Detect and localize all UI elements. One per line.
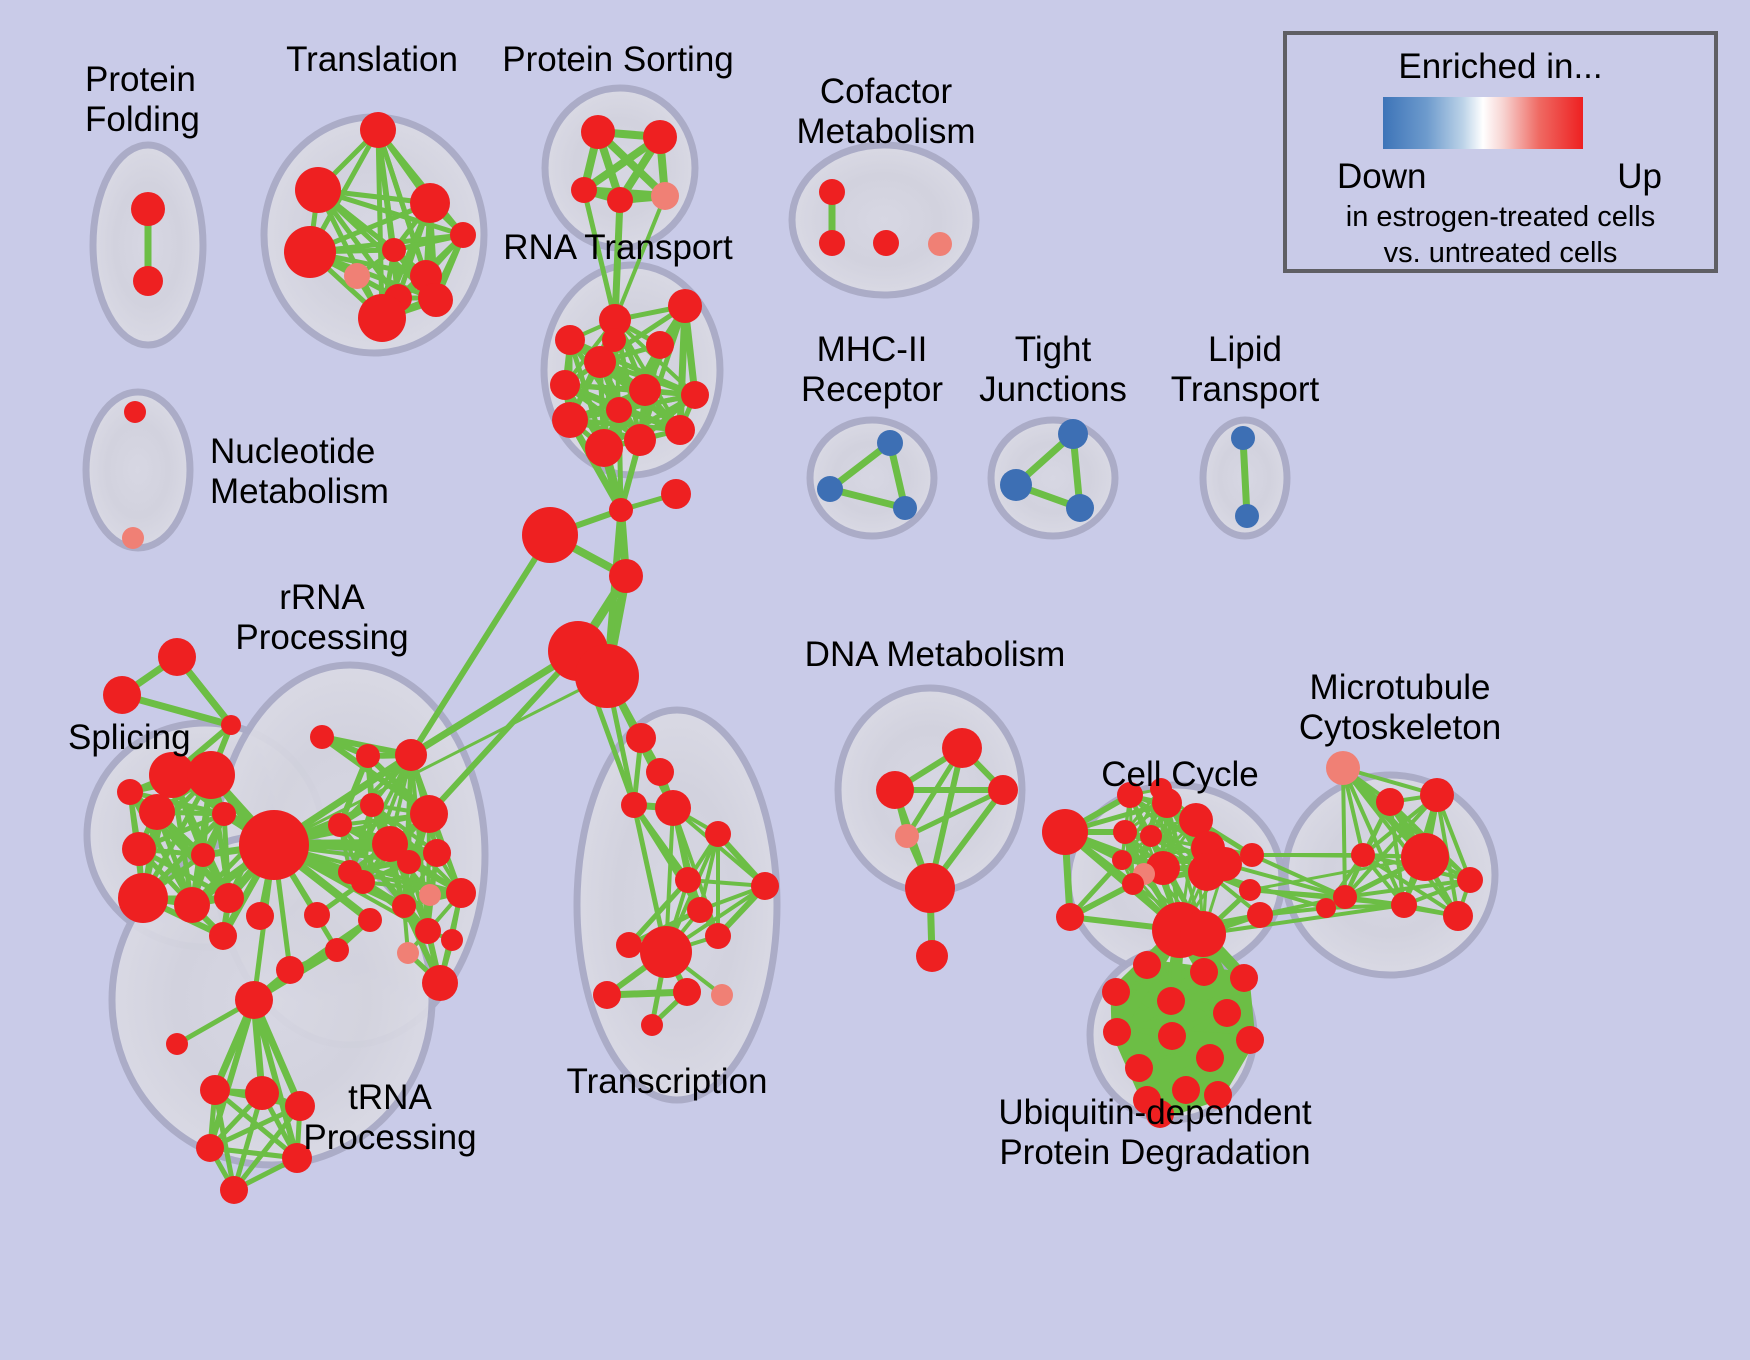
network-node — [571, 177, 597, 203]
network-node — [928, 232, 952, 256]
network-node — [550, 370, 580, 400]
network-node — [122, 527, 144, 549]
network-node — [200, 1075, 230, 1105]
network-node — [1213, 999, 1241, 1027]
network-node — [246, 902, 274, 930]
network-node — [1401, 833, 1449, 881]
network-node — [196, 1134, 224, 1162]
network-node — [1316, 898, 1336, 918]
network-node — [687, 897, 713, 923]
network-node — [905, 863, 955, 913]
network-node — [239, 810, 309, 880]
network-node — [1333, 885, 1357, 909]
network-node — [103, 676, 141, 714]
network-node — [410, 183, 450, 223]
network-node — [1112, 850, 1132, 870]
network-node — [360, 112, 396, 148]
network-node — [235, 981, 273, 1019]
network-node — [705, 923, 731, 949]
network-node — [629, 374, 661, 406]
cluster-label-translation: Translation — [286, 40, 458, 80]
network-node — [395, 739, 427, 771]
network-node — [392, 894, 416, 918]
legend-subtitle-line1: in estrogen-treated cells — [1287, 201, 1714, 234]
network-node — [1376, 788, 1404, 816]
network-node — [1391, 892, 1417, 918]
network-node — [220, 1176, 248, 1204]
network-node — [1208, 847, 1242, 881]
network-node — [1066, 494, 1094, 522]
network-node — [665, 415, 695, 445]
network-node — [214, 883, 244, 913]
cluster-label-tight-junctions: Tight Junctions — [979, 330, 1127, 410]
network-node — [646, 758, 674, 786]
network-node — [187, 751, 235, 799]
network-node — [397, 942, 419, 964]
cluster-label-cell-cycle: Cell Cycle — [1101, 755, 1259, 795]
network-node — [819, 230, 845, 256]
network-node — [415, 918, 441, 944]
network-node — [133, 266, 163, 296]
network-node — [1113, 820, 1137, 844]
cluster-label-mhc-ii-receptor: MHC-II Receptor — [801, 330, 943, 410]
network-node — [382, 238, 406, 262]
network-node — [1326, 751, 1360, 785]
network-node — [118, 873, 168, 923]
network-node — [624, 424, 656, 456]
network-node — [356, 744, 380, 768]
network-node — [158, 638, 196, 676]
network-node — [360, 793, 384, 817]
network-node — [711, 984, 733, 1006]
network-node — [895, 824, 919, 848]
network-node — [893, 496, 917, 520]
cluster-hull-cofactor-metabolism — [792, 145, 976, 295]
network-node — [1058, 419, 1088, 449]
network-node — [675, 867, 701, 893]
network-node — [174, 887, 210, 923]
network-node — [751, 872, 779, 900]
network-node — [1122, 873, 1144, 895]
network-node — [221, 715, 241, 735]
legend-title: Enriched in... — [1287, 47, 1714, 87]
network-node — [1103, 1018, 1131, 1046]
network-node — [651, 182, 679, 210]
legend-colorbar — [1383, 97, 1583, 149]
network-node — [819, 179, 845, 205]
network-node — [295, 167, 341, 213]
network-node — [626, 723, 656, 753]
cluster-label-ubiquitin-protein-degradation: Ubiquitin-dependent Protein Degradation — [998, 1093, 1311, 1173]
network-node — [124, 401, 146, 423]
network-node — [139, 794, 175, 830]
network-node — [276, 956, 304, 984]
network-node — [1239, 879, 1261, 901]
cluster-label-splicing: Splicing — [68, 718, 191, 758]
network-node — [607, 187, 633, 213]
network-node — [1125, 1054, 1153, 1082]
network-node — [191, 843, 215, 867]
network-node — [358, 294, 406, 342]
network-node — [552, 402, 588, 438]
cluster-label-dna-metabolism: DNA Metabolism — [805, 635, 1066, 675]
network-node — [616, 932, 642, 958]
network-node — [1420, 778, 1454, 812]
cluster-label-cofactor-metabolism: Cofactor Metabolism — [797, 72, 976, 152]
cluster-label-nucleotide-metabolism: Nucleotide Metabolism — [210, 432, 389, 512]
network-node — [212, 802, 236, 826]
network-node — [646, 331, 674, 359]
network-node — [1042, 809, 1088, 855]
network-node — [1102, 978, 1130, 1006]
cluster-label-lipid-transport: Lipid Transport — [1171, 330, 1319, 410]
network-node — [1235, 504, 1259, 528]
network-node — [593, 981, 621, 1009]
network-node — [1190, 958, 1218, 986]
network-node — [1240, 843, 1264, 867]
network-node — [877, 430, 903, 456]
network-node — [643, 120, 677, 154]
network-node — [1457, 867, 1483, 893]
network-node — [1000, 469, 1032, 501]
network-node — [681, 381, 709, 409]
network-node — [1196, 1044, 1224, 1072]
network-node — [209, 922, 237, 950]
network-node — [1140, 825, 1162, 847]
network-node — [397, 850, 421, 874]
network-node — [1230, 964, 1258, 992]
network-node — [284, 226, 336, 278]
legend-up-label: Up — [1617, 157, 1662, 197]
network-node — [441, 929, 463, 951]
cluster-label-rrna-processing: rRNA Processing — [235, 578, 408, 658]
network-node — [661, 479, 691, 509]
network-node — [621, 792, 647, 818]
figure-canvas: Protein FoldingTranslationProtein Sortin… — [0, 0, 1750, 1360]
network-node — [1443, 901, 1473, 931]
network-node — [988, 775, 1018, 805]
network-node — [602, 328, 626, 352]
legend-box: Enriched in... Down Up in estrogen-treat… — [1283, 31, 1718, 273]
network-node — [351, 870, 375, 894]
network-node — [916, 940, 948, 972]
network-node — [641, 1014, 663, 1036]
network-node — [640, 926, 692, 978]
network-node — [410, 795, 448, 833]
network-node — [555, 325, 585, 355]
network-node — [575, 644, 639, 708]
cluster-label-microtubule-cytoskeleton: Microtubule Cytoskeleton — [1299, 668, 1501, 748]
network-node — [422, 965, 458, 1001]
network-node — [609, 498, 633, 522]
network-node — [446, 878, 476, 908]
network-node — [1133, 951, 1161, 979]
network-node — [817, 476, 843, 502]
legend-subtitle-line2: vs. untreated cells — [1287, 237, 1714, 270]
network-node — [358, 908, 382, 932]
network-node — [1247, 902, 1273, 928]
network-node — [581, 115, 615, 149]
network-node — [668, 289, 702, 323]
network-node — [166, 1033, 188, 1055]
cluster-label-trna-processing: tRNA Processing — [303, 1078, 476, 1158]
network-node — [705, 821, 731, 847]
network-node — [328, 813, 352, 837]
network-node — [876, 771, 914, 809]
cluster-label-rna-transport: RNA Transport — [503, 228, 733, 268]
network-node — [122, 832, 156, 866]
network-node — [1157, 987, 1185, 1015]
network-node — [310, 725, 334, 749]
network-node — [131, 192, 165, 226]
network-node — [1180, 911, 1226, 957]
network-node — [609, 559, 643, 593]
network-node — [344, 263, 370, 289]
network-node — [245, 1076, 279, 1110]
network-node — [419, 283, 453, 317]
network-node — [450, 222, 476, 248]
network-node — [1231, 426, 1255, 450]
network-node — [117, 779, 143, 805]
network-node — [873, 230, 899, 256]
network-node — [655, 790, 691, 826]
network-node — [522, 507, 578, 563]
legend-down-label: Down — [1337, 157, 1426, 197]
network-node — [423, 839, 451, 867]
network-node — [1236, 1026, 1264, 1054]
cluster-label-transcription: Transcription — [567, 1062, 768, 1102]
network-node — [1351, 843, 1375, 867]
cluster-label-protein-folding: Protein Folding — [85, 60, 200, 140]
network-node — [606, 397, 632, 423]
network-node — [304, 902, 330, 928]
network-node — [325, 938, 349, 962]
network-node — [1158, 1022, 1186, 1050]
network-node — [673, 978, 701, 1006]
network-node — [1056, 903, 1084, 931]
network-node — [419, 884, 441, 906]
network-node — [585, 429, 623, 467]
cluster-label-protein-sorting: Protein Sorting — [502, 40, 734, 80]
network-node — [942, 728, 982, 768]
